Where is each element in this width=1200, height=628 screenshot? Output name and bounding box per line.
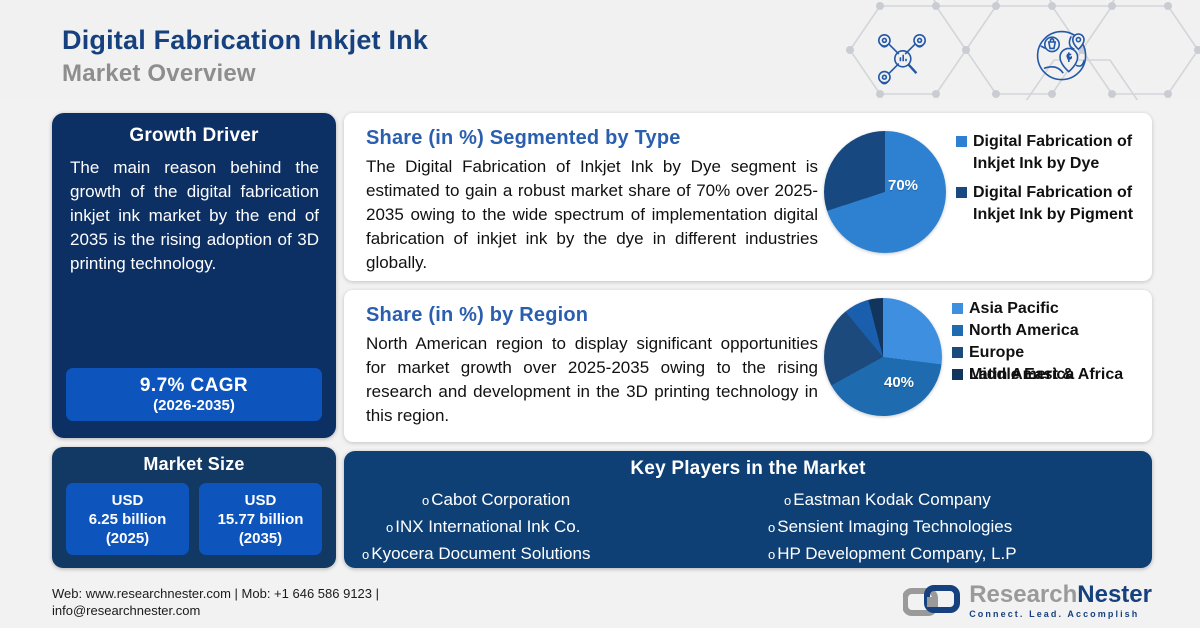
legend-region: Asia Pacific North America Europe Middle… — [952, 298, 1149, 386]
market-size-value: 6.25 billion — [89, 510, 167, 529]
legend-swatch-icon — [952, 303, 963, 314]
infographic-page: Digital Fabrication Inkjet Ink Market Ov… — [0, 0, 1200, 628]
pie-chart-region: 40% — [824, 298, 942, 416]
legend-item-asia-pacific: Asia Pacific — [952, 298, 1149, 320]
market-size-value: 15.77 billion — [218, 510, 304, 529]
share-by-type-text: The Digital Fabrication of Inkjet Ink by… — [366, 155, 818, 275]
market-size-year: (2035) — [239, 529, 282, 548]
key-players-panel: Key Players in the Market o Cabot Corpor… — [344, 451, 1152, 568]
growth-driver-title: Growth Driver — [52, 125, 336, 147]
research-nester-logo: ResearchNester Connect. Lead. Accomplish — [903, 582, 1152, 619]
legend-type: Digital Fabrication of Inkjet Ink by Dye… — [956, 131, 1168, 233]
key-player-item: o Sensient Imaging Technologies — [768, 514, 1152, 541]
share-by-type-card: Share (in %) Segmented by Type The Digit… — [344, 113, 1152, 281]
bullet-icon: o — [768, 515, 775, 541]
legend-swatch-icon — [956, 136, 967, 147]
growth-driver-text: The main reason behind the growth of the… — [70, 156, 319, 276]
title-main: Digital Fabrication Inkjet Ink — [62, 24, 428, 57]
legend-item-north-america: North America — [952, 320, 1149, 342]
legend-swatch-icon — [952, 347, 963, 358]
people-analytics-icon — [879, 35, 925, 84]
legend-label: North America — [969, 320, 1149, 342]
bullet-icon: o — [386, 515, 393, 541]
hexagon-network-pattern — [840, 0, 1200, 100]
key-players-column-left: o Cabot Corporation o INX International … — [344, 487, 748, 568]
legend-swatch-icon — [956, 187, 967, 198]
legend-label: Digital Fabrication of Inkjet Ink by Pig… — [973, 182, 1168, 226]
market-size-year: (2025) — [106, 529, 149, 548]
key-player-name: Kyocera Document Solutions — [371, 541, 590, 567]
logo-name-nester: Nester — [1077, 581, 1152, 608]
cagr-badge: 9.7% CAGR (2026-2035) — [66, 368, 322, 421]
cagr-value: 9.7% CAGR — [140, 375, 248, 397]
bullet-icon: o — [362, 542, 369, 568]
logo-wordmark: ResearchNester Connect. Lead. Accomplish — [969, 582, 1152, 619]
market-size-panel: Market Size USD 6.25 billion (2025) USD … — [52, 447, 336, 568]
legend-item-latin-america: Latin America — [952, 364, 1149, 386]
legend-item-europe: Europe — [952, 342, 1149, 364]
key-player-item: o INX International Ink Co. — [386, 514, 748, 541]
pie-chart-type: 70% — [824, 131, 946, 253]
legend-item-dye: Digital Fabrication of Inkjet Ink by Dye — [956, 131, 1168, 175]
legend-label: Latin America — [969, 364, 1149, 386]
bullet-icon: o — [784, 488, 791, 514]
growth-driver-panel: Growth Driver The main reason behind the… — [52, 113, 336, 438]
market-size-box-forecast-year: USD 15.77 billion (2035) — [199, 483, 322, 555]
legend-item-pigment: Digital Fabrication of Inkjet Ink by Pig… — [956, 182, 1168, 226]
title-subtitle: Market Overview — [62, 59, 428, 89]
share-by-region-text: North American region to display signifi… — [366, 332, 818, 428]
key-players-title: Key Players in the Market — [344, 458, 1152, 480]
key-player-item: o Cabot Corporation — [422, 487, 748, 514]
key-player-item: o Eastman Kodak Company — [784, 487, 1152, 514]
page-title: Digital Fabrication Inkjet Ink Market Ov… — [62, 24, 428, 89]
footer-contact: Web: www.researchnester.com | Mob: +1 64… — [52, 585, 522, 619]
market-size-currency: USD — [112, 491, 144, 510]
share-by-region-chart: 40% Asia Pacific North America Europe M — [824, 298, 1149, 416]
share-by-region-card: Share (in %) by Region North American re… — [344, 290, 1152, 442]
key-player-name: HP Development Company, L.P — [777, 541, 1016, 567]
market-size-currency: USD — [245, 491, 277, 510]
logo-title: ResearchNester — [969, 582, 1152, 608]
share-by-type-chart: 70% Digital Fabrication of Inkjet Ink by… — [824, 131, 1168, 253]
key-player-item: o HP Development Company, L.P — [768, 541, 1152, 568]
key-player-name: INX International Ink Co. — [395, 514, 580, 540]
key-players-column-right: o Eastman Kodak Company o Sensient Imagi… — [748, 487, 1152, 568]
legend-label: Europe — [969, 342, 1149, 364]
key-player-name: Cabot Corporation — [431, 487, 570, 513]
share-by-type-heading: Share (in %) Segmented by Type — [366, 127, 681, 150]
market-size-title: Market Size — [52, 454, 336, 475]
legend-swatch-icon — [952, 369, 963, 380]
legend-label: Asia Pacific — [969, 298, 1149, 320]
legend-swatch-icon — [952, 325, 963, 336]
bullet-icon: o — [422, 488, 429, 514]
logo-tagline: Connect. Lead. Accomplish — [969, 609, 1152, 619]
key-player-name: Sensient Imaging Technologies — [777, 514, 1012, 540]
logo-name-research: Research — [969, 581, 1077, 608]
logo-mark-icon — [903, 585, 961, 617]
pie-label-dye: 70% — [888, 177, 918, 194]
legend-label: Digital Fabrication of Inkjet Ink by Dye — [973, 131, 1168, 175]
key-player-name: Eastman Kodak Company — [793, 487, 991, 513]
share-by-region-heading: Share (in %) by Region — [366, 304, 588, 327]
market-size-box-base-year: USD 6.25 billion (2025) — [66, 483, 189, 555]
cagr-period: (2026-2035) — [153, 397, 235, 415]
page-header: Digital Fabrication Inkjet Ink Market Ov… — [0, 0, 1200, 100]
key-player-item: o Kyocera Document Solutions — [362, 541, 748, 568]
bullet-icon: o — [768, 542, 775, 568]
pie-label-north-america: 40% — [884, 374, 914, 391]
